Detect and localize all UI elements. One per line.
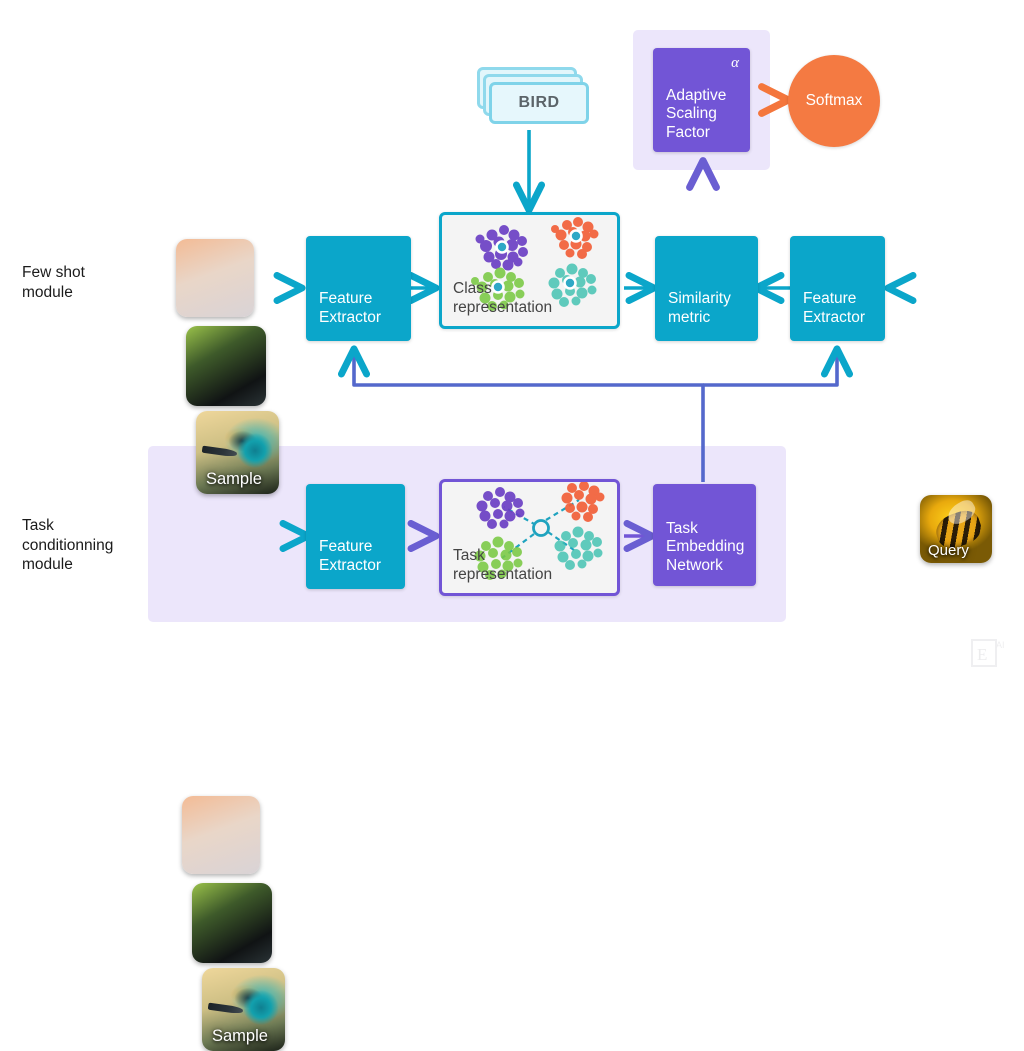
task-purple-cluster <box>477 487 525 529</box>
ten-line3: Network <box>666 557 744 576</box>
task-conditioning-label-line3: module <box>22 555 154 575</box>
softmax-node[interactable]: Softmax <box>788 55 880 147</box>
feature-extractor-query[interactable]: Feature Extractor <box>790 236 885 341</box>
watermark-letter: E <box>977 645 987 664</box>
bird-class-label-card[interactable]: BIRD <box>489 82 589 124</box>
feature-extractor-task-line1: Feature <box>319 538 381 557</box>
conditioning-bus-right <box>703 351 837 385</box>
query-photo[interactable]: Query <box>920 495 992 563</box>
asf-line3: Factor <box>666 124 726 143</box>
few-shot-module-label-line1: Few shot <box>22 263 152 283</box>
adaptive-scaling-factor-block[interactable]: α Adaptive Scaling Factor <box>653 48 750 152</box>
task-sample-photo-front[interactable]: Sample <box>202 968 285 1051</box>
sample-photo-front[interactable]: Sample <box>196 411 279 494</box>
task-teal-cluster <box>555 527 603 571</box>
class-representation-box[interactable]: Class representation <box>439 212 620 329</box>
feature-extractor-task[interactable]: Feature Extractor <box>306 484 405 589</box>
teal-cluster-centroid <box>565 278 576 289</box>
class-representation-line1: Class <box>453 280 552 299</box>
asf-line2: Scaling <box>666 105 726 124</box>
class-representation-label: Class representation <box>453 280 552 317</box>
orange-cluster-centroid <box>571 231 582 242</box>
task-conditioning-label-line2: conditionning <box>22 536 154 556</box>
feature-extractor-support[interactable]: Feature Extractor <box>306 236 411 341</box>
asf-line1: Adaptive <box>666 87 726 106</box>
feature-extractor-task-line2: Extractor <box>319 557 381 576</box>
similarity-metric-line2: metric <box>668 309 731 328</box>
watermark-sup: AI <box>996 640 1005 650</box>
task-conditioning-module-label: Task conditionning module <box>22 516 154 575</box>
sample-photo-back-1 <box>186 326 266 406</box>
ten-line2: Embedding <box>666 538 744 557</box>
task-representation-line1: Task <box>453 547 552 566</box>
softmax-label: Softmax <box>806 92 863 110</box>
task-sample-photo-back-1 <box>192 883 272 963</box>
few-shot-module-label-line2: module <box>22 283 152 303</box>
alpha-symbol-icon: α <box>731 54 739 73</box>
watermark-logo: E AI <box>971 636 1007 668</box>
sample-photo-back-2 <box>176 239 254 317</box>
class-representation-line2: representation <box>453 299 552 318</box>
sample-caption: Sample <box>206 470 262 489</box>
diagram-canvas: Few shot module Task conditionning modul… <box>0 0 1024 683</box>
bird-class-label-text: BIRD <box>518 94 559 112</box>
task-embedding-network-block[interactable]: Task Embedding Network <box>653 484 756 586</box>
similarity-metric-line1: Similarity <box>668 290 731 309</box>
feature-extractor-query-line2: Extractor <box>803 309 865 328</box>
task-conditioning-label-line1: Task <box>22 516 154 536</box>
purple-cluster-centroid <box>497 242 508 253</box>
similarity-metric-block[interactable]: Similarity metric <box>655 236 758 341</box>
task-sample-photo-back-2 <box>182 796 260 874</box>
task-sample-caption: Sample <box>212 1027 268 1046</box>
task-orange-cluster <box>562 482 605 522</box>
task-representation-label: Task representation <box>453 547 552 584</box>
task-center-node <box>534 521 549 536</box>
task-representation-box[interactable]: Task representation <box>439 479 620 596</box>
query-caption: Query <box>928 542 969 559</box>
feature-extractor-support-line1: Feature <box>319 290 381 309</box>
task-representation-line2: representation <box>453 566 552 585</box>
few-shot-module-label: Few shot module <box>22 263 152 302</box>
feature-extractor-query-line1: Feature <box>803 290 865 309</box>
ten-line1: Task <box>666 520 744 539</box>
feature-extractor-support-line2: Extractor <box>319 309 381 328</box>
